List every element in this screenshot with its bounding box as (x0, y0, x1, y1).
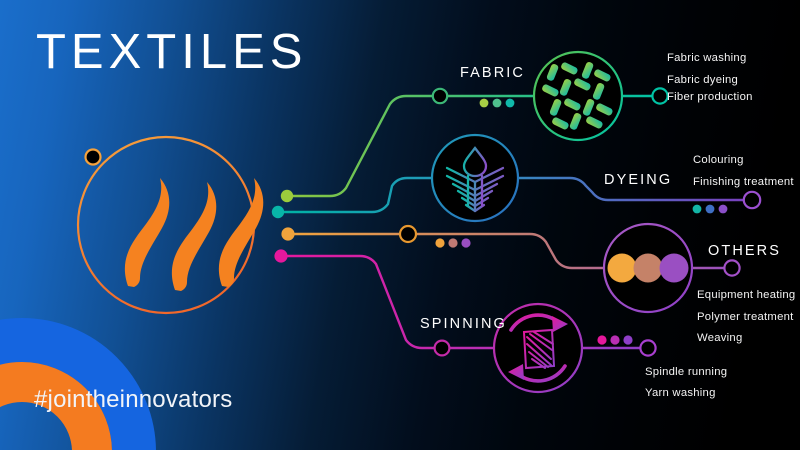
leaf-spinning-0[interactable]: Spindle running (645, 366, 727, 378)
leaf-fabric-2[interactable]: Fiber production (667, 91, 753, 103)
hashtag-label: #jointheinnovators (34, 386, 232, 414)
leaf-dyeing-0[interactable]: Colouring (693, 154, 744, 166)
leaf-dyeing-1[interactable]: Finishing treatment (693, 176, 794, 188)
leaf-spinning-1[interactable]: Yarn washing (645, 387, 716, 399)
branch-label-fabric[interactable]: FABRIC (460, 65, 525, 81)
branch-label-dyeing[interactable]: DYEING (604, 172, 672, 188)
leaf-fabric-0[interactable]: Fabric washing (667, 52, 746, 64)
leaf-others-0[interactable]: Equipment heating (697, 289, 795, 301)
infographic-canvas: TEXTILES #jointheinnovators FABRIC DYEIN… (0, 0, 800, 450)
branch-label-spinning[interactable]: SPINNING (420, 316, 507, 332)
leaf-fabric-1[interactable]: Fabric dyeing (667, 74, 738, 86)
leaf-others-1[interactable]: Polymer treatment (697, 311, 794, 323)
page-title: TEXTILES (36, 28, 307, 77)
branch-label-others[interactable]: OTHERS (708, 243, 781, 259)
text-layer: TEXTILES #jointheinnovators FABRIC DYEIN… (0, 0, 800, 450)
leaf-others-2[interactable]: Weaving (697, 332, 743, 344)
